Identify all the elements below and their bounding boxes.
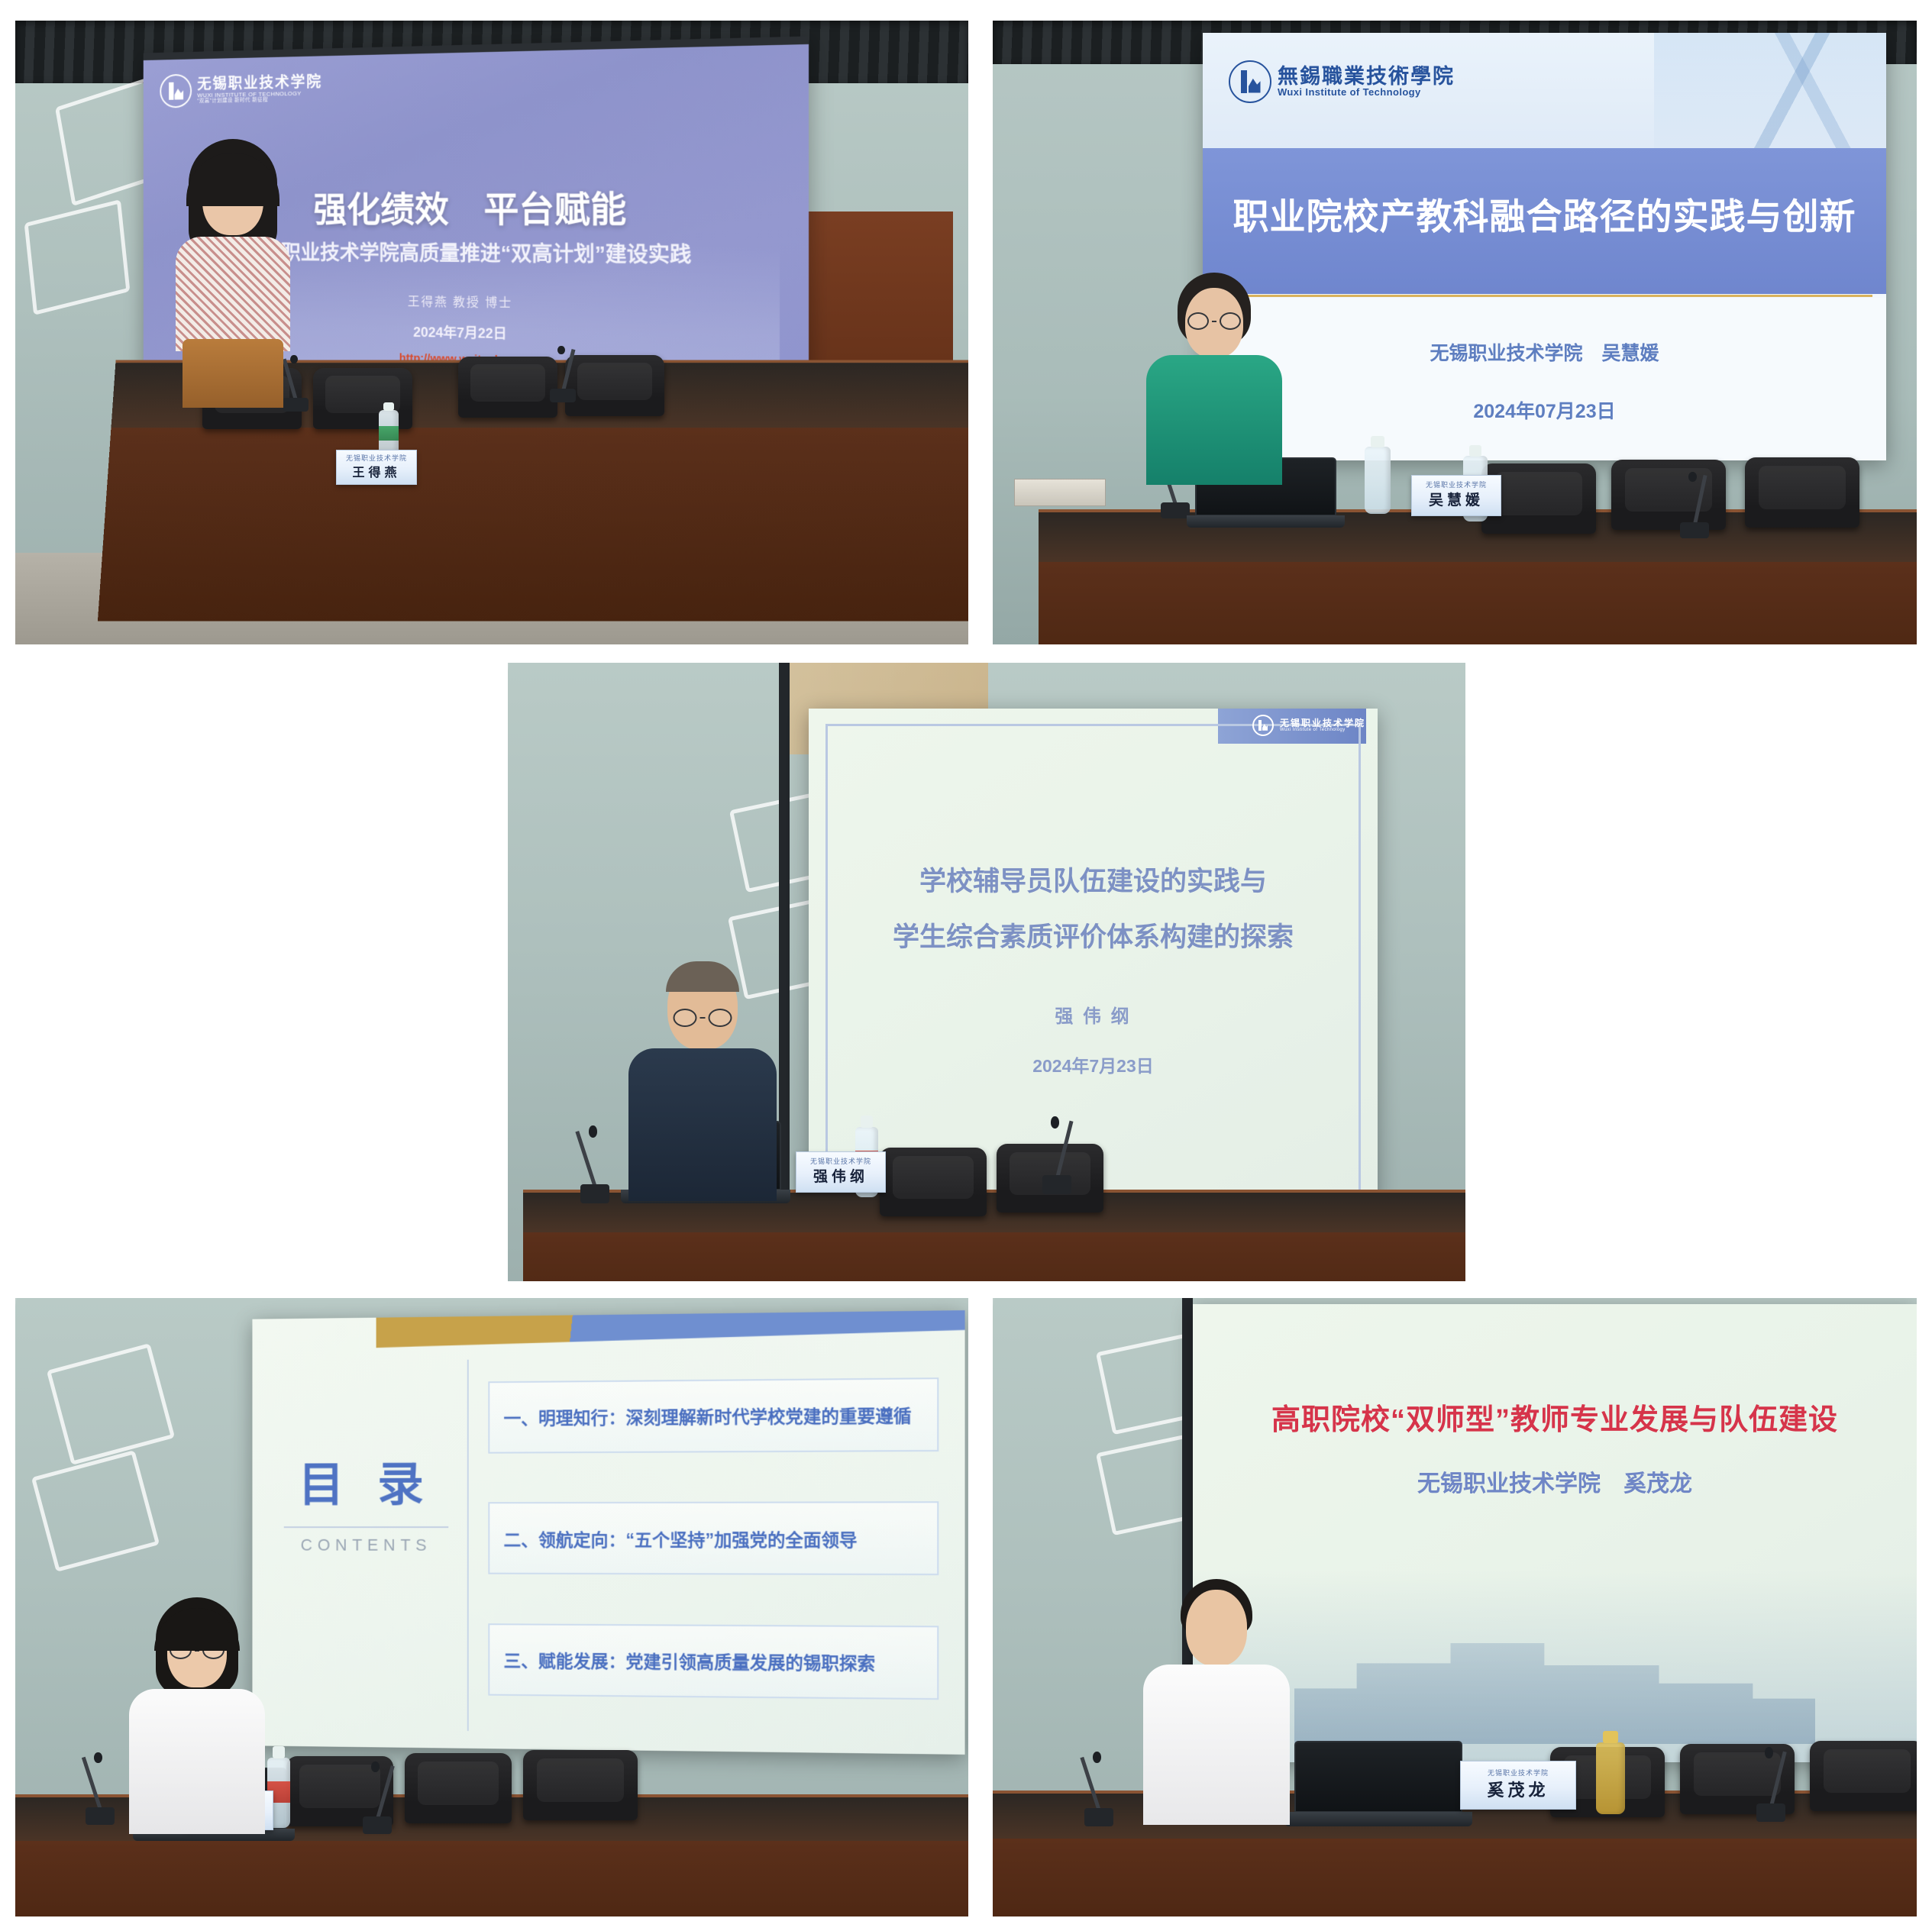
- nameplate-name: 王得燕: [352, 462, 400, 480]
- slide-logo-en: Wuxi Institute of Technology: [1280, 728, 1365, 732]
- laptop: [1294, 1741, 1462, 1826]
- floor-box: [1014, 479, 1106, 506]
- slide-date-3: 2024年7月23日: [843, 1051, 1344, 1077]
- chair: [1810, 1741, 1917, 1811]
- slide-logo-cn: 無錫職業技術學院: [1278, 66, 1455, 87]
- contents-item-1-label: 一、明理知行：深刻理解新时代学校党建的重要遵循: [504, 1401, 912, 1430]
- slide-logo-sub: “双高”计划建设 新时代 新征程: [197, 96, 322, 104]
- nameplate-logo: 无锡职业技术学院: [1426, 482, 1487, 489]
- university-crest-icon: [1252, 715, 1274, 736]
- nameplate-3: 无锡职业技术学院 强伟纲: [796, 1151, 886, 1193]
- contents-item-2-label: 二、领航定向：“五个坚持”加强党的全面领导: [504, 1526, 858, 1552]
- slide-title-2: 职业院校产教科融合路径的实践与创新: [1216, 187, 1872, 240]
- microphone: [550, 349, 576, 402]
- nameplate-name: 吴慧媛: [1429, 489, 1484, 509]
- microphone: [363, 1765, 392, 1834]
- slide-logo-1: 无锡职业技术学院 WUXI INSTITUTE OF TECHNOLOGY “双…: [160, 71, 322, 108]
- photo-bottom-left: 目 录 CONTENTS 一、明理知行：深刻理解新时代学校党建的重要遵循 二、领…: [15, 1298, 968, 1916]
- chair: [405, 1753, 512, 1823]
- nameplate-logo: 无锡职业技术学院: [346, 455, 407, 462]
- photo-bottom-right: 高职院校“双师型”教师专业发展与队伍建设 无锡职业技术学院 奚茂龙: [993, 1298, 1917, 1916]
- slide-title-3-line2: 学生综合素质评价体系构建的探索: [832, 915, 1355, 954]
- nameplate-logo: 无锡职业技术学院: [810, 1158, 871, 1165]
- slide-title-3-line1: 学校辅导员队伍建设的实践与: [843, 860, 1344, 899]
- speaker-person-4: [122, 1597, 271, 1826]
- conference-table-2: [1039, 509, 1917, 644]
- speaker-person-3: [622, 964, 783, 1201]
- slide-logo-en: Wuxi Institute of Technology: [1278, 87, 1455, 98]
- slide-logo-3: 无锡职业技术学院 Wuxi Institute of Technology: [1252, 715, 1365, 736]
- contents-item-2: 二、领航定向：“五个坚持”加强党的全面领导: [488, 1501, 939, 1575]
- speaker-person-5: [1134, 1579, 1298, 1823]
- contents-heading-en: CONTENTS: [279, 1535, 453, 1555]
- projection-screen-5: 高职院校“双师型”教师专业发展与队伍建设 无锡职业技术学院 奚茂龙: [1193, 1304, 1917, 1762]
- chair: [1745, 457, 1859, 528]
- slide-presenter-3: 强 伟 纲: [843, 1001, 1344, 1028]
- microphone: [580, 1130, 609, 1203]
- nameplate-2: 无锡职业技术学院 吴慧媛: [1411, 475, 1501, 516]
- thermos-bottle: [1365, 447, 1391, 514]
- chair: [458, 357, 557, 418]
- microphone: [1084, 1756, 1113, 1826]
- university-crest-icon: [160, 74, 192, 108]
- conference-table-3: [523, 1190, 1465, 1281]
- speaker-person-1: [160, 139, 305, 391]
- nameplate-name: 强伟纲: [813, 1165, 868, 1186]
- projection-screen-2: 無錫職業技術學院 Wuxi Institute of Technology 职业…: [1203, 33, 1886, 460]
- speaker-person-2: [1138, 273, 1291, 494]
- nameplate-logo: 无锡职业技术学院: [1488, 1770, 1549, 1777]
- nameplate-name: 奚茂龙: [1487, 1777, 1549, 1801]
- slide-presenter-5: 无锡职业技术学院 奚茂龙: [1236, 1464, 1873, 1498]
- microphone: [1042, 1121, 1071, 1194]
- photo-collage: 无锡职业技术学院 WUXI INSTITUTE OF TECHNOLOGY “双…: [0, 0, 1932, 1931]
- nameplate-1: 无锡职业技术学院 王得燕: [336, 450, 417, 485]
- slide-date-2: 2024年07月23日: [1244, 396, 1846, 424]
- photo-top-right: 無錫職業技術學院 Wuxi Institute of Technology 职业…: [993, 21, 1917, 644]
- microphone: [1756, 1752, 1785, 1822]
- projection-screen-4: 目 录 CONTENTS 一、明理知行：深刻理解新时代学校党建的重要遵循 二、领…: [252, 1310, 964, 1755]
- photo-top-left: 无锡职业技术学院 WUXI INSTITUTE OF TECHNOLOGY “双…: [15, 21, 968, 644]
- projection-screen-3: 无锡职业技术学院 Wuxi Institute of Technology 学校…: [809, 709, 1378, 1213]
- contents-item-3-label: 三、赋能发展：党建引领高质量发展的锡职探索: [504, 1646, 876, 1675]
- slide-logo-2: 無錫職業技術學院 Wuxi Institute of Technology: [1229, 60, 1455, 103]
- chair: [880, 1148, 987, 1216]
- chair: [523, 1750, 638, 1820]
- contents-item-3: 三、赋能发展：党建引领高质量发展的锡职探索: [488, 1623, 939, 1700]
- university-crest-icon: [1229, 60, 1271, 103]
- slide-presenter-2: 无锡职业技术学院 吴慧媛: [1244, 338, 1846, 366]
- contents-heading: 目 录 CONTENTS: [279, 1446, 453, 1555]
- contents-heading-cn: 目 录: [279, 1446, 453, 1514]
- slide-title-5: 高职院校“双师型”教师专业发展与队伍建设: [1214, 1396, 1895, 1438]
- microphone: [1680, 476, 1709, 538]
- photo-middle-center: 无锡职业技术学院 Wuxi Institute of Technology 学校…: [508, 663, 1465, 1281]
- nameplate-5: 无锡职业技术学院 奚茂龙: [1460, 1761, 1576, 1810]
- microphone: [86, 1756, 115, 1825]
- chair: [565, 355, 664, 416]
- tea-bottle: [1596, 1742, 1625, 1814]
- slide-logo-cn: 无锡职业技术学院: [1280, 718, 1365, 728]
- contents-item-1: 一、明理知行：深刻理解新时代学校党建的重要遵循: [488, 1377, 939, 1454]
